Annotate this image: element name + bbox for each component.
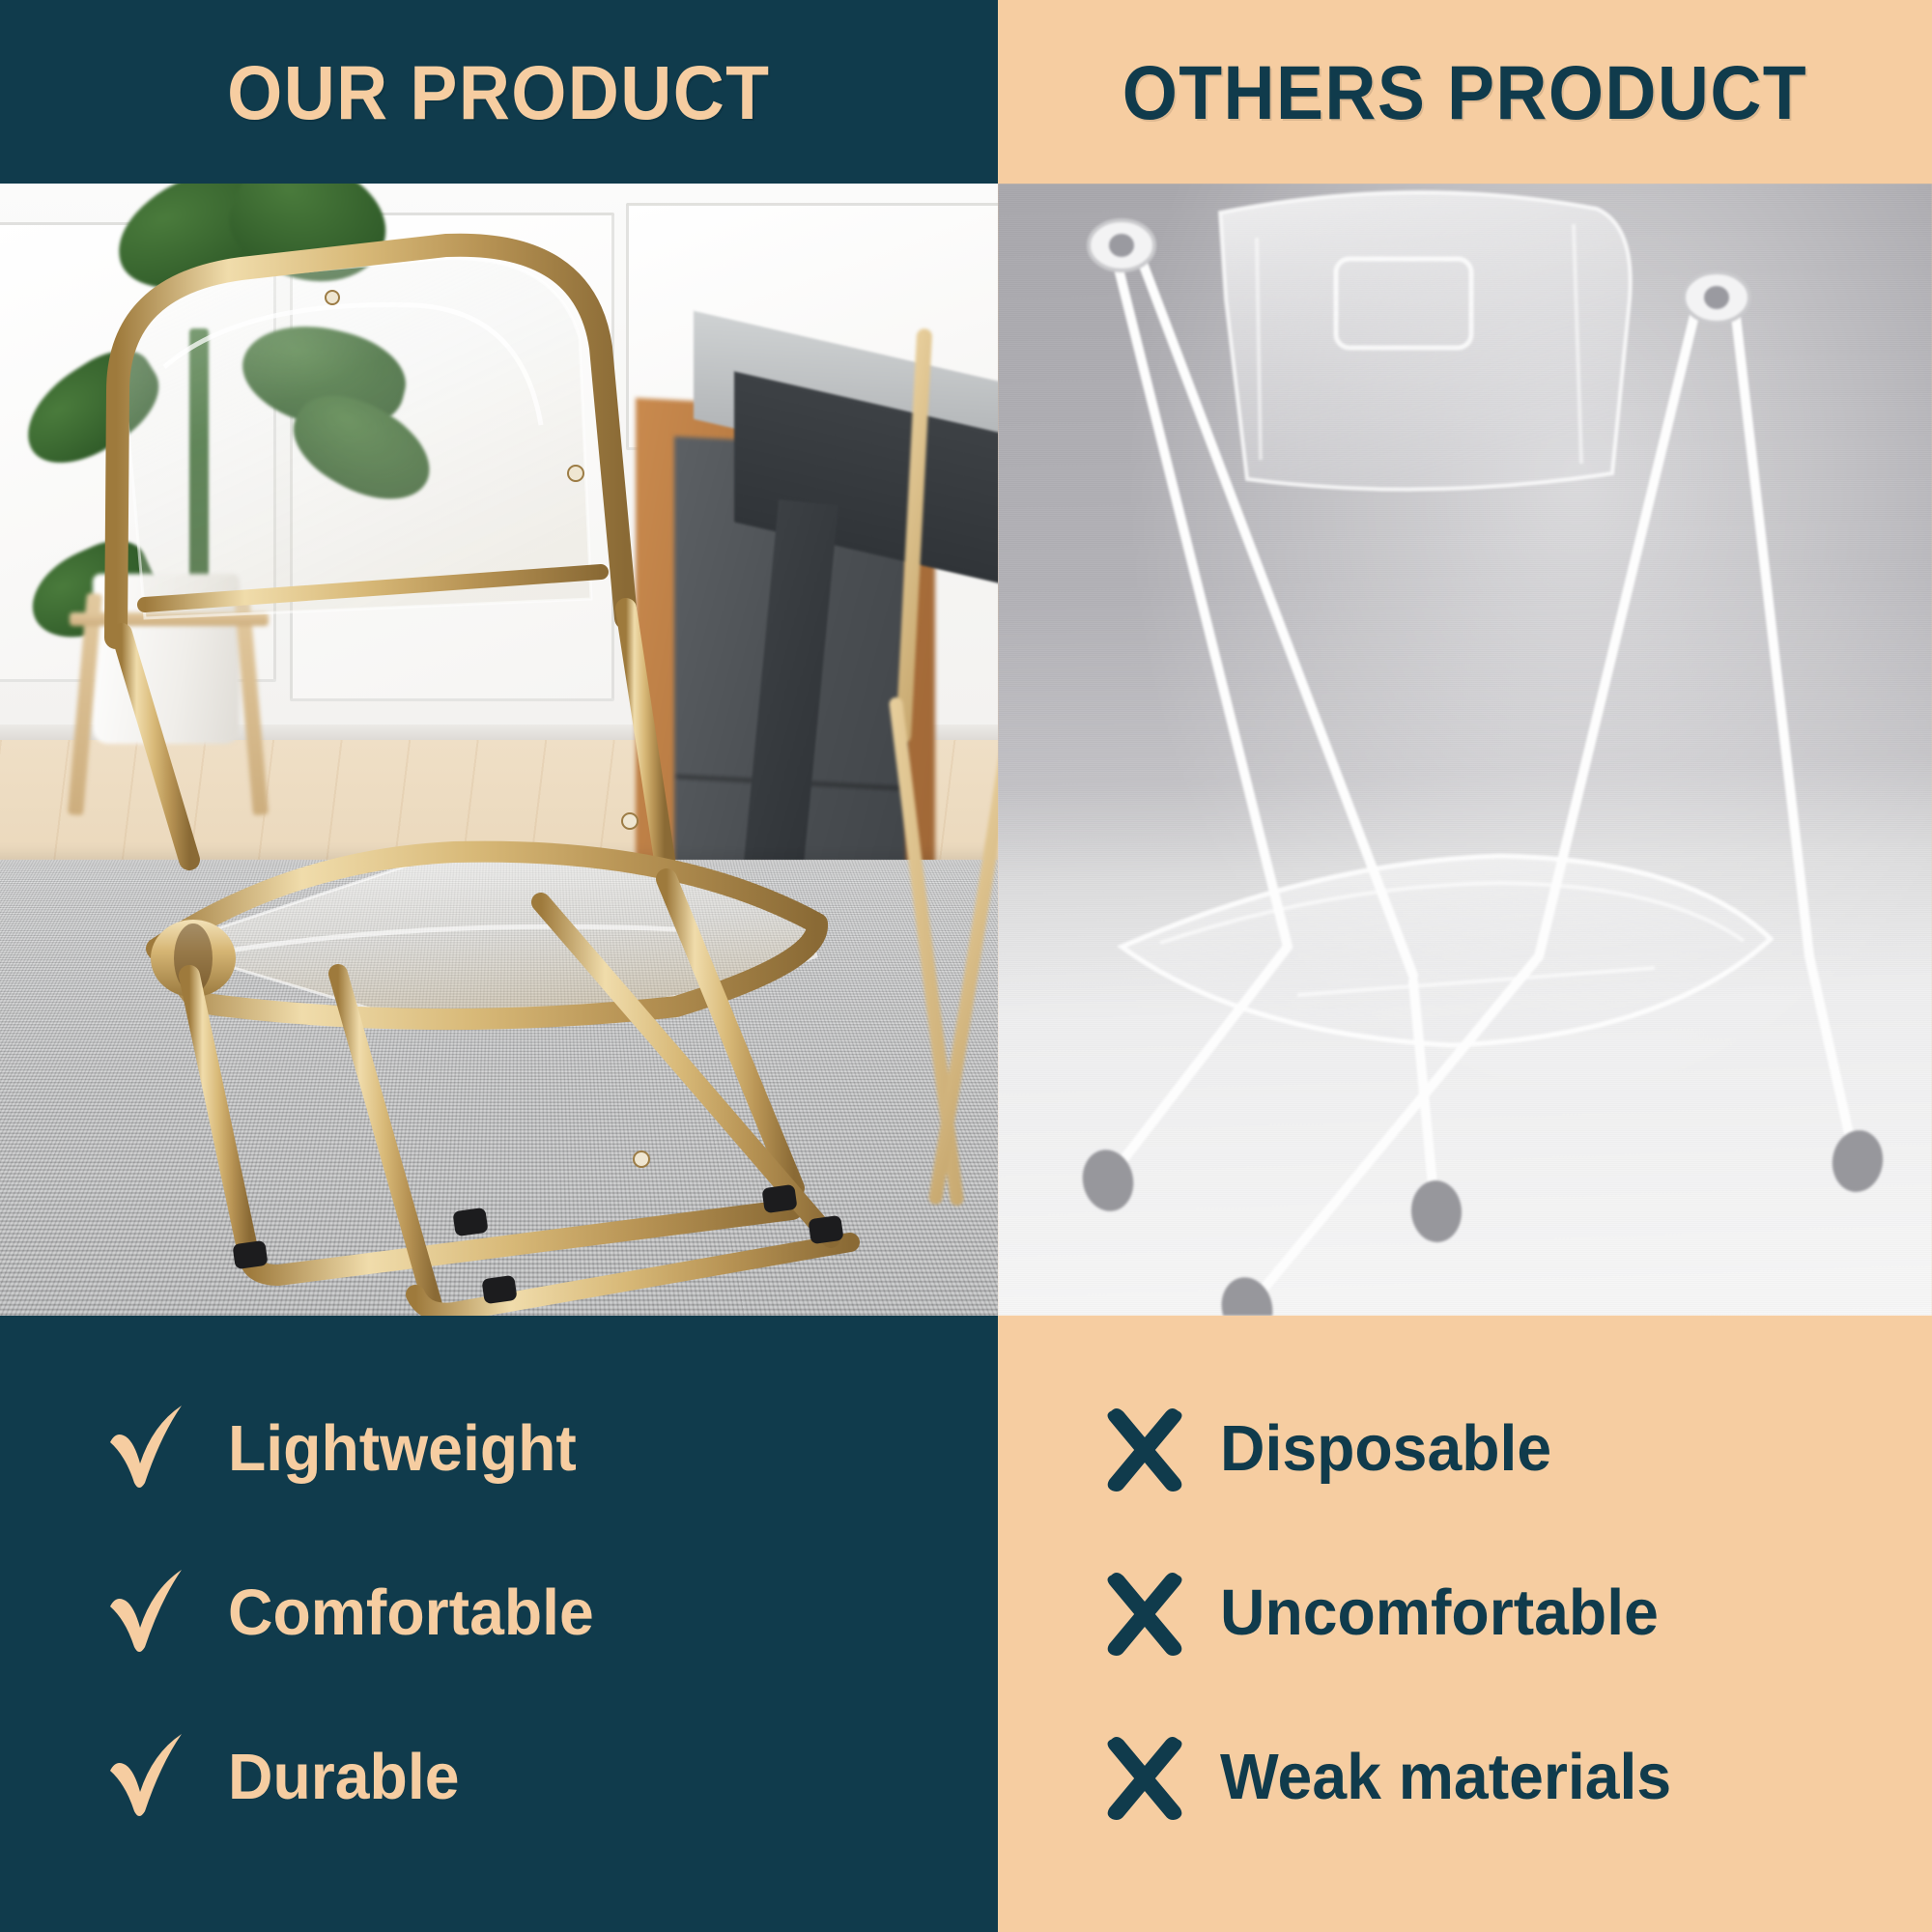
cross-icon	[1098, 1562, 1199, 1662]
others-product-title: OTHERS PRODUCT	[1122, 54, 1807, 130]
feature-row: Disposable	[998, 1366, 1932, 1530]
our-product-photo	[0, 184, 998, 1316]
feature-row: Comfortable	[0, 1530, 998, 1694]
check-icon	[102, 1398, 203, 1498]
our-product-title: OUR PRODUCT	[227, 54, 770, 130]
others-product-panel: OTHERS PRODUCT	[998, 0, 1932, 1932]
others-product-photo	[998, 184, 1932, 1316]
check-icon	[102, 1726, 203, 1827]
others-product-header: OTHERS PRODUCT	[998, 0, 1932, 184]
feature-row: Durable	[0, 1694, 998, 1859]
gold-acrylic-folding-chair	[0, 184, 998, 1316]
clear-plastic-folding-chair	[998, 184, 1932, 1316]
feature-label: Lightweight	[228, 1416, 577, 1481]
our-product-feature-list: Lightweight Comfortable Durable	[0, 1316, 998, 1932]
cross-icon	[1098, 1726, 1199, 1827]
feature-row: Weak materials	[998, 1694, 1932, 1859]
feature-label: Comfortable	[228, 1580, 594, 1645]
feature-label: Disposable	[1220, 1416, 1551, 1481]
our-product-panel: OUR PRODUCT	[0, 0, 998, 1932]
feature-label: Durable	[228, 1745, 459, 1809]
others-product-feature-list: Disposable Uncomfortable	[998, 1316, 1932, 1932]
feature-row: Lightweight	[0, 1366, 998, 1530]
feature-label: Uncomfortable	[1220, 1580, 1659, 1645]
feature-label: Weak materials	[1220, 1745, 1671, 1809]
check-icon	[102, 1562, 203, 1662]
our-product-header: OUR PRODUCT	[0, 0, 998, 184]
product-comparison-infographic: OUR PRODUCT	[0, 0, 1932, 1932]
cross-icon	[1098, 1398, 1199, 1498]
feature-row: Uncomfortable	[998, 1530, 1932, 1694]
